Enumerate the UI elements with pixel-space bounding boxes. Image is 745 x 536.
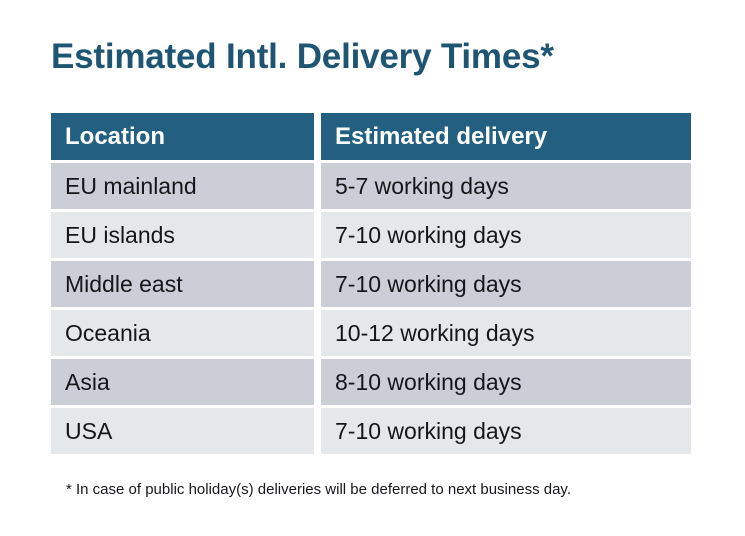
cell-delivery: 10-12 working days	[321, 310, 691, 356]
table-row: Middle east 7-10 working days	[51, 261, 691, 307]
table-row: Oceania 10-12 working days	[51, 310, 691, 356]
table-row: Asia 8-10 working days	[51, 359, 691, 405]
footnote-text: * In case of public holiday(s) deliverie…	[66, 480, 571, 500]
cell-delivery: 7-10 working days	[321, 408, 691, 454]
delivery-times-table: Location Estimated delivery EU mainland …	[51, 113, 691, 454]
cell-location: Asia	[51, 359, 314, 405]
table-row: EU islands 7-10 working days	[51, 212, 691, 258]
cell-delivery: 8-10 working days	[321, 359, 691, 405]
cell-location: EU islands	[51, 212, 314, 258]
cell-location: Oceania	[51, 310, 314, 356]
cell-location: USA	[51, 408, 314, 454]
table-row: USA 7-10 working days	[51, 408, 691, 454]
delivery-times-page: Estimated Intl. Delivery Times* Location…	[0, 0, 745, 536]
cell-delivery: 7-10 working days	[321, 261, 691, 307]
cell-delivery: 5-7 working days	[321, 163, 691, 209]
column-header-estimated-delivery: Estimated delivery	[321, 113, 691, 160]
table-header-row: Location Estimated delivery	[51, 113, 691, 160]
table-row: EU mainland 5-7 working days	[51, 163, 691, 209]
column-header-location: Location	[51, 113, 314, 160]
cell-delivery: 7-10 working days	[321, 212, 691, 258]
page-title: Estimated Intl. Delivery Times*	[51, 36, 554, 78]
cell-location: EU mainland	[51, 163, 314, 209]
cell-location: Middle east	[51, 261, 314, 307]
